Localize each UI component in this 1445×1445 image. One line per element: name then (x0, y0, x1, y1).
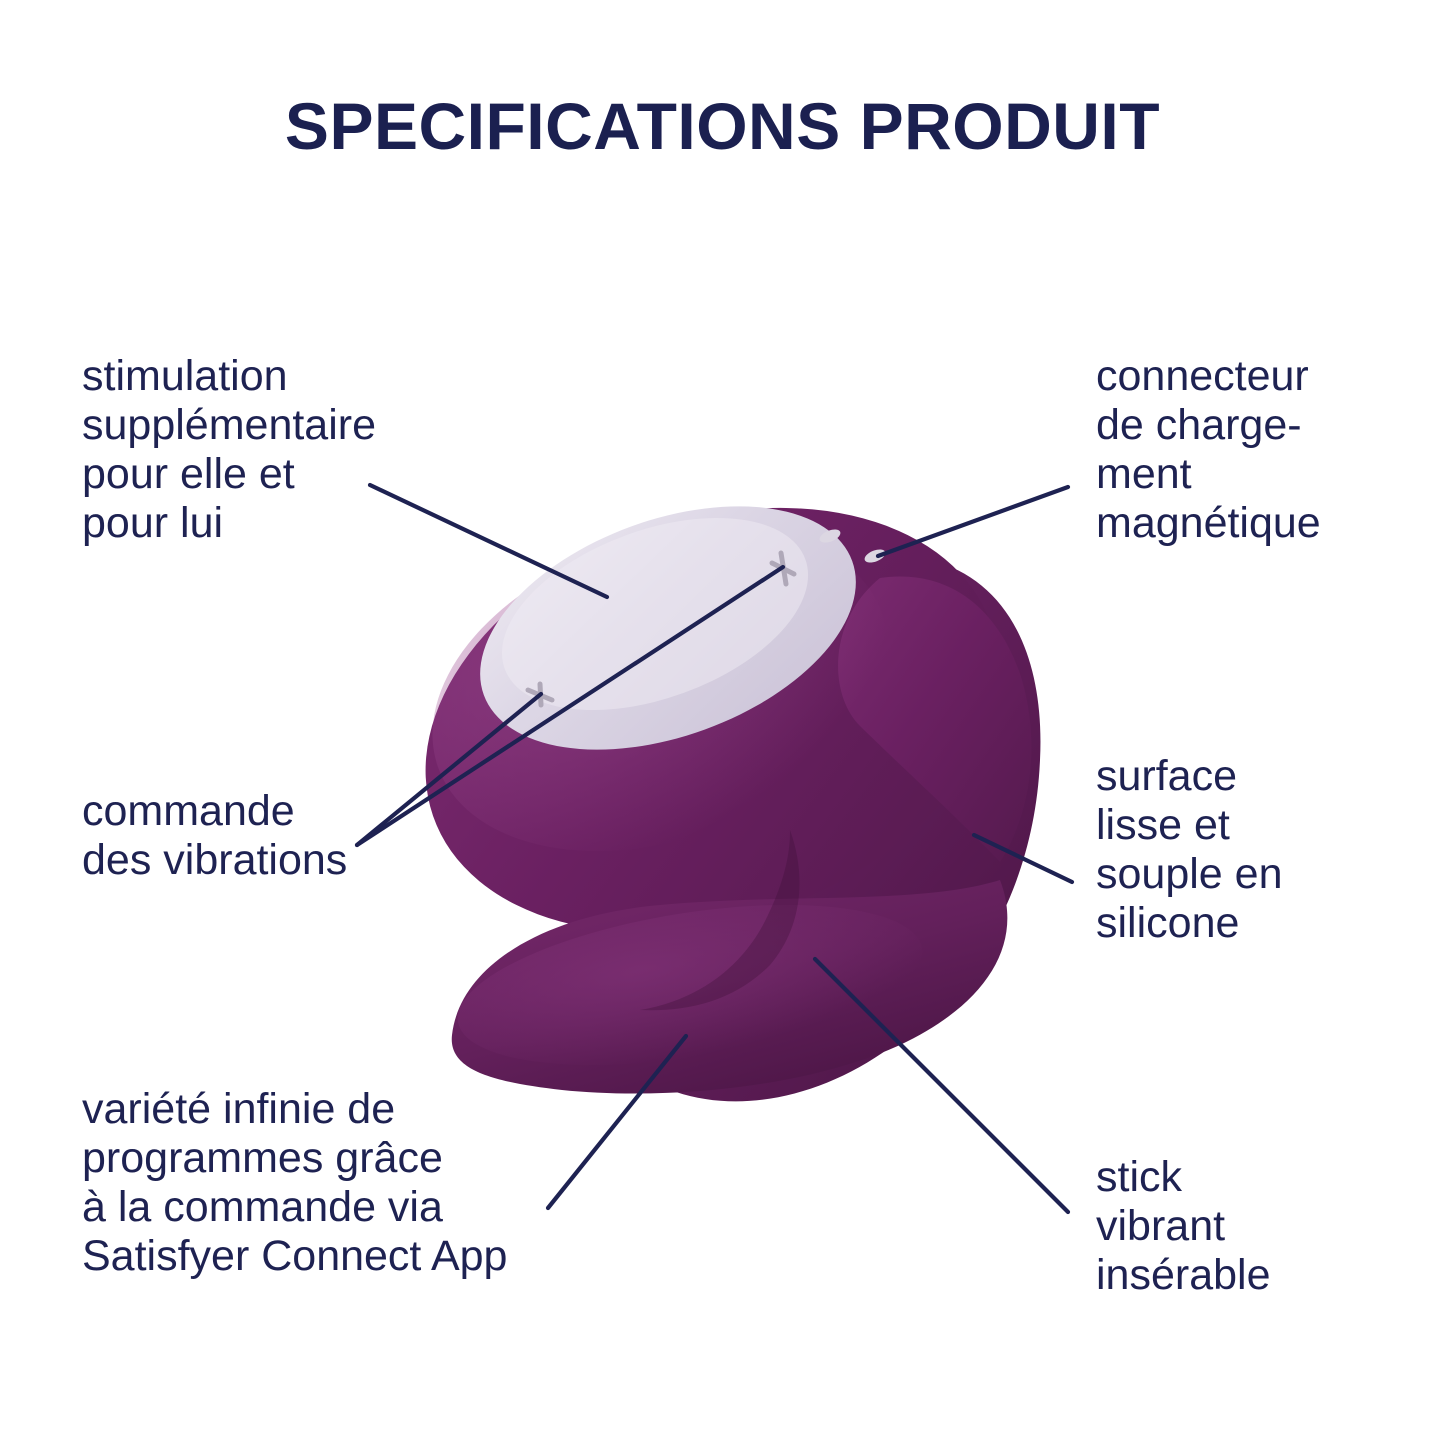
callout-variete-infinie-de-programmes: variété infinie de programmes grâce à la… (82, 1085, 602, 1281)
leader-surface (974, 835, 1072, 882)
product-spec-diagram: SPECIFICATIONS PRODUIT (0, 0, 1445, 1445)
callout-connecteur-de-chargement-magnetique: connecteur de charge- ment magnétique (1096, 352, 1426, 548)
callout-commande-des-vibrations: commande des vibrations (82, 787, 502, 885)
callout-stick-vibrant-inserable: stick vibrant insérable (1096, 1153, 1416, 1300)
callout-surface-lisse-et-souple-en-silicone: surface lisse et souple en silicone (1096, 752, 1416, 948)
control-panel (447, 459, 889, 796)
leader-connecteur (878, 487, 1068, 556)
magnetic-charging-contacts (818, 527, 888, 565)
page-title: SPECIFICATIONS PRODUIT (0, 88, 1445, 164)
vibration-control-buttons (528, 553, 794, 705)
leader-stick (815, 959, 1068, 1212)
callout-stimulation: stimulation supplémentaire pour elle et … (82, 352, 502, 548)
